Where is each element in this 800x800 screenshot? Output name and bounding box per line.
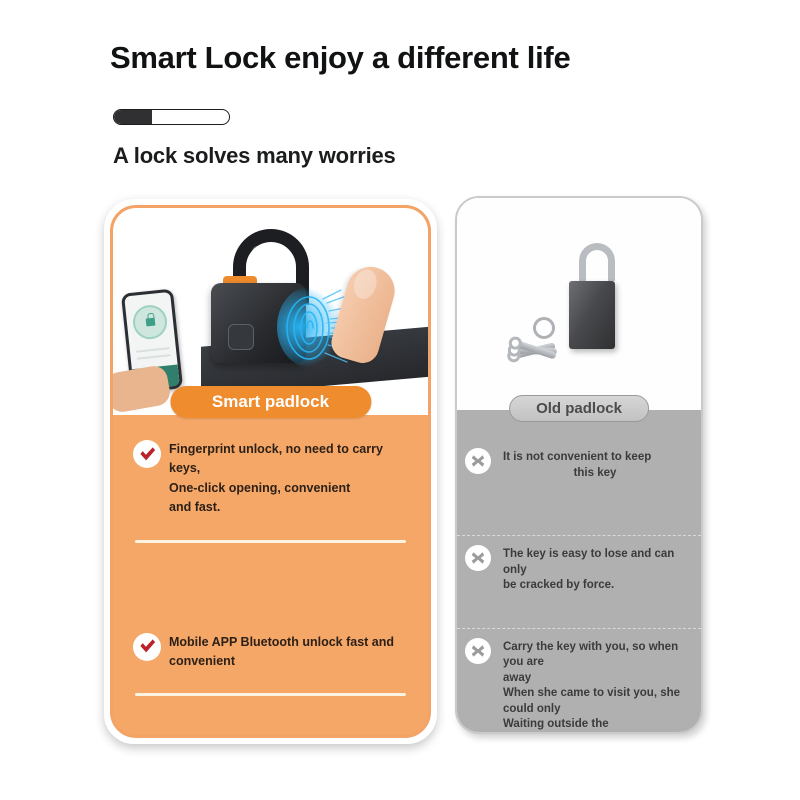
list-item-text: It is not convenient to keep this key [503, 450, 687, 481]
list-item: Mobile APP Bluetooth unlock fast and con… [113, 617, 428, 680]
spacer [113, 543, 428, 617]
old-padlock-card: Old padlock It is not convenient to keep… [455, 196, 703, 734]
list-item: Carry the key with you, so when you are … [457, 630, 701, 734]
hand-holding-phone [113, 364, 172, 414]
smart-padlock-card: Smart padlock Fingerprint unlock, no nee… [104, 199, 437, 744]
progress-bar [113, 109, 230, 125]
check-icon [133, 633, 161, 661]
phone-ui-line [136, 347, 169, 352]
list-item-text: The key is easy to lose and can only be … [503, 547, 687, 594]
app-lock-icon [131, 303, 168, 340]
lock-glyph-icon [145, 318, 155, 327]
x-icon [465, 638, 491, 664]
check-icon [133, 440, 161, 468]
phone-ui-line [137, 354, 170, 359]
list-item-text: Fingerprint unlock, no need to carry key… [169, 440, 408, 518]
key-ring-icon [533, 317, 555, 339]
list-item-text: Carry the key with you, so when you are … [503, 640, 687, 734]
list-item: The key is easy to lose and can only be … [457, 537, 701, 604]
list-item-text: Mobile APP Bluetooth unlock fast and con… [169, 633, 408, 672]
old-padlock-badge: Old padlock [509, 395, 649, 422]
progress-bar-fill [114, 110, 152, 124]
spacer [113, 696, 428, 736]
old-padlock-shackle [579, 243, 615, 281]
smart-padlock-photo [113, 208, 428, 415]
spacer [457, 491, 701, 535]
old-padlock-drawback-list: It is not convenient to keep this key Th… [457, 440, 701, 734]
old-padlock-scene [457, 198, 701, 410]
smart-padlock-feature-list: Fingerprint unlock, no need to carry key… [113, 424, 428, 735]
list-item: Fingerprint unlock, no need to carry key… [113, 424, 428, 526]
smart-padlock-card-inner: Smart padlock Fingerprint unlock, no nee… [110, 205, 431, 738]
smart-padlock-scene [113, 208, 428, 415]
spacer [457, 604, 701, 628]
fingerprint-sensor-icon [228, 324, 254, 350]
infographic-page: Smart Lock enjoy a different life A lock… [0, 0, 800, 800]
old-padlock-photo [457, 198, 701, 410]
list-item: It is not convenient to keep this key [457, 440, 701, 491]
x-icon [465, 448, 491, 474]
smart-padlock-badge: Smart padlock [170, 386, 371, 418]
page-subtitle: A lock solves many worries [113, 143, 396, 169]
page-title: Smart Lock enjoy a different life [110, 40, 570, 76]
x-icon [465, 545, 491, 571]
old-padlock-body [569, 281, 615, 349]
